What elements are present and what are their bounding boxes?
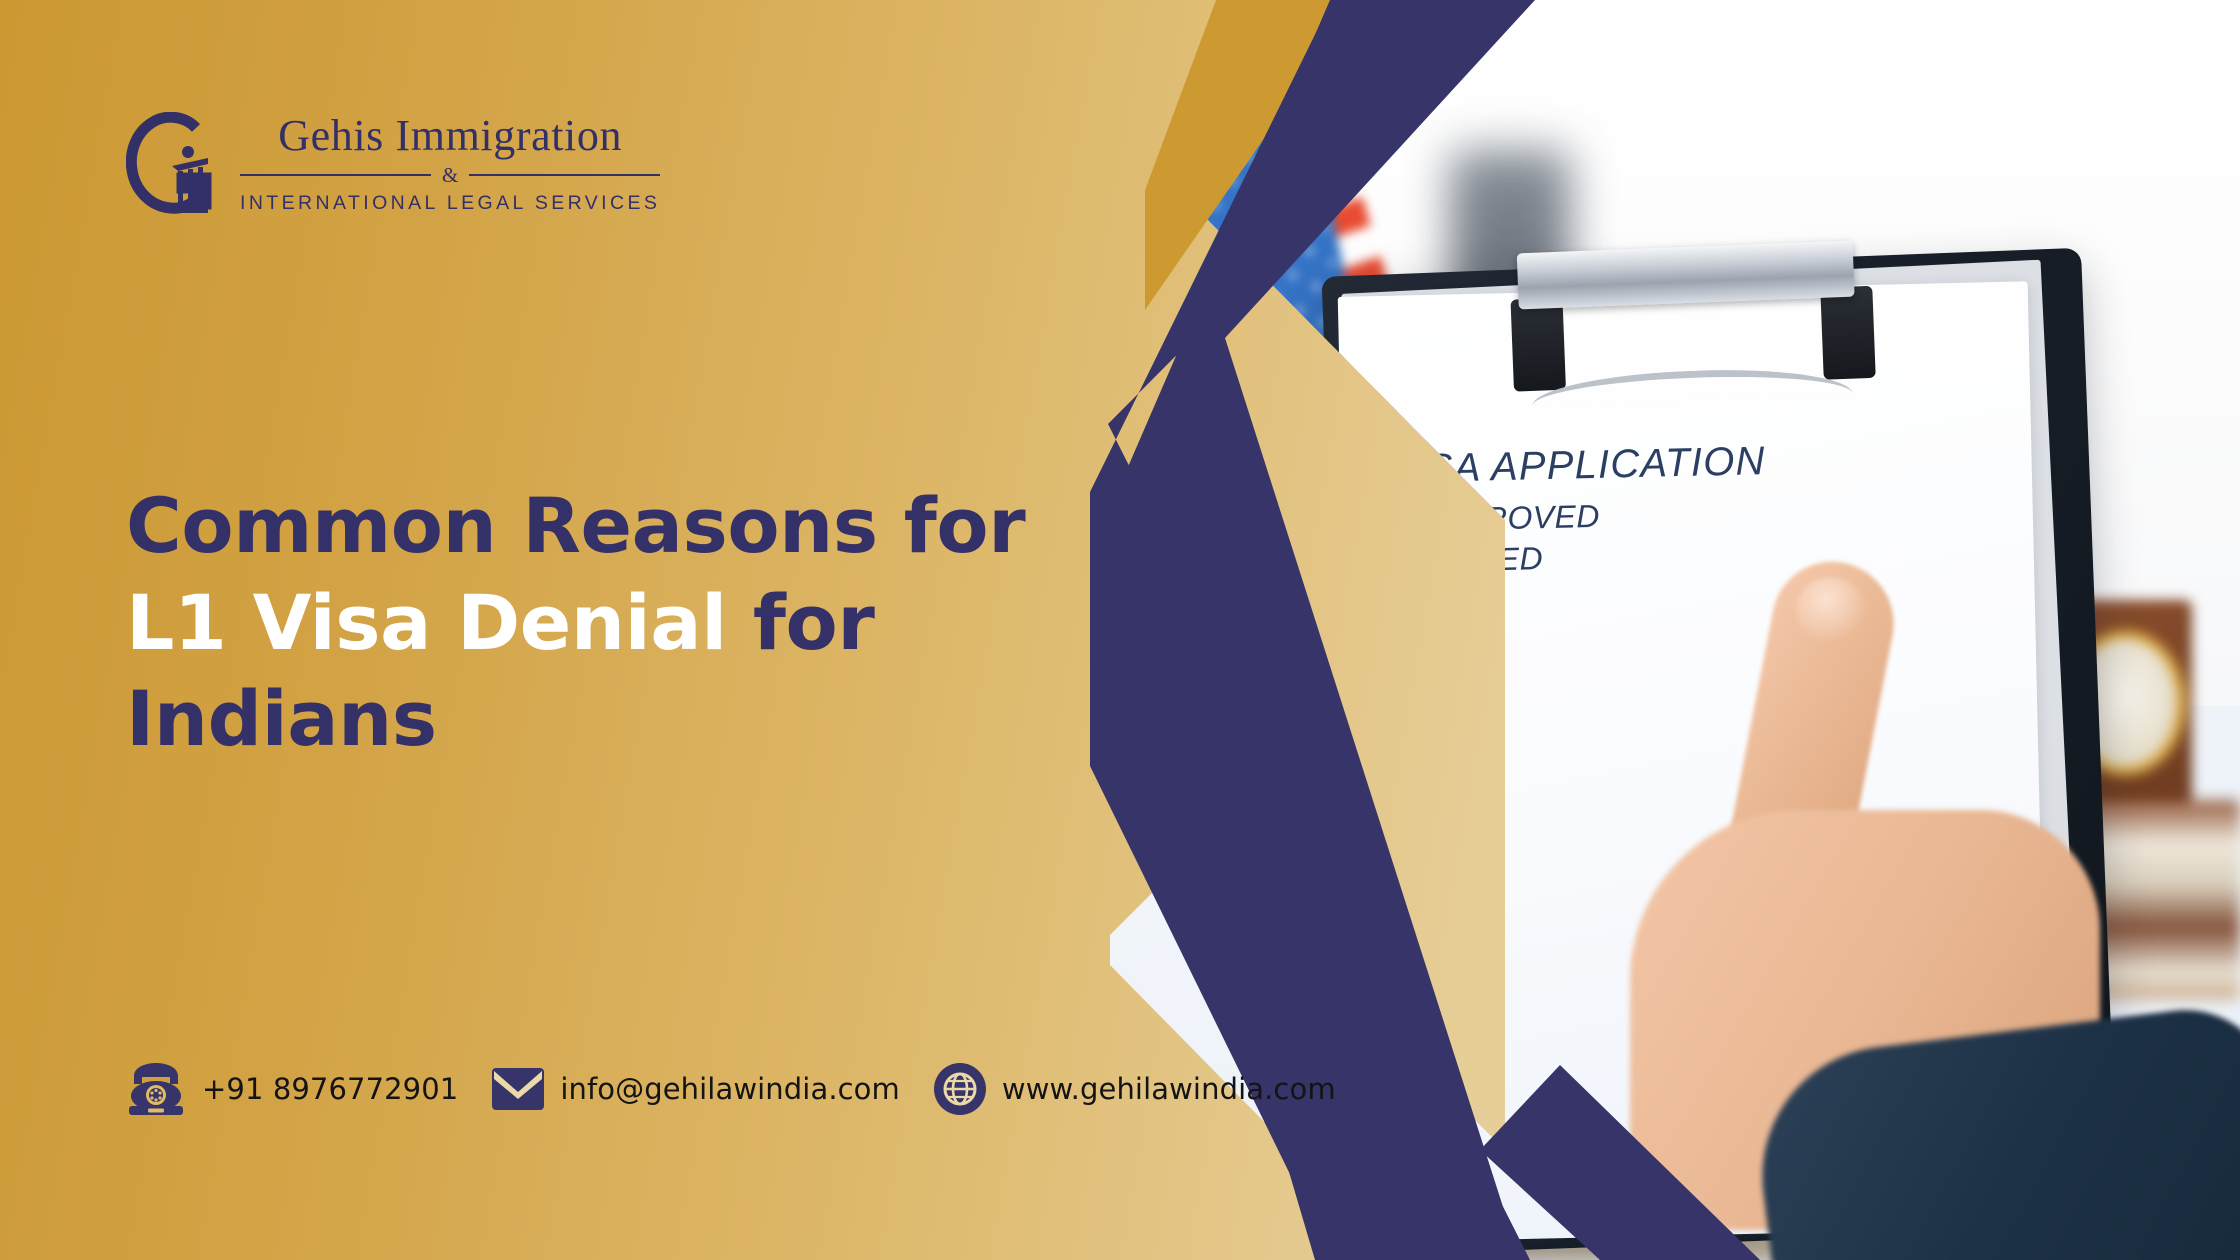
contact-website-text: www.gehilawindia.com (1002, 1072, 1336, 1106)
telephone-icon (126, 1062, 186, 1116)
headline-line-2: L1 Visa Denial for (126, 575, 1126, 672)
hand (1630, 560, 2190, 1260)
headline-line-3: Indians (126, 671, 1126, 768)
brand-logo[interactable]: Gehis Immigration & INTERNATIONAL LEGAL … (126, 112, 660, 216)
form-option-approved-label: APPROVED (1418, 498, 1600, 539)
brand-divider: & (240, 165, 660, 186)
contact-email-text: info@gehilawindia.com (560, 1072, 900, 1106)
divider-line-right (469, 174, 660, 176)
form-option-denied-label: DENIED (1419, 540, 1543, 580)
contact-bar: +91 8976772901 info@gehilawindia.com www… (126, 1062, 1336, 1116)
contact-phone[interactable]: +91 8976772901 (126, 1062, 458, 1116)
divider-line-left (240, 174, 431, 176)
brand-ampersand: & (442, 165, 458, 186)
clip-jaw-right (1820, 286, 1875, 380)
brand-name: Gehis Immigration (278, 114, 622, 158)
globe-icon (934, 1063, 986, 1115)
contact-email[interactable]: info@gehilawindia.com (492, 1068, 900, 1110)
checkbox-denied-checked (1387, 549, 1413, 575)
background-light-glow (1090, 440, 1420, 740)
checkbox-approved (1387, 508, 1413, 534)
headline-line-2-rest: for (753, 578, 875, 667)
flag-canton (1090, 92, 1359, 433)
form-title: VISA APPLICATION (1385, 439, 1766, 493)
headline-highlight: L1 Visa Denial (126, 578, 727, 667)
promotional-banner: VISA APPLICATION APPROVED DENIED (0, 0, 2240, 1260)
contact-phone-text: +91 8976772901 (202, 1072, 458, 1106)
contact-website[interactable]: www.gehilawindia.com (934, 1063, 1336, 1115)
brand-logo-text: Gehis Immigration & INTERNATIONAL LEGAL … (240, 114, 660, 215)
envelope-icon (492, 1068, 544, 1110)
headline-line-1: Common Reasons for (126, 478, 1126, 575)
clip-jaw-left (1510, 298, 1565, 392)
pillar-monogram-icon (126, 112, 218, 216)
page-title: Common Reasons for L1 Visa Denial for In… (126, 478, 1126, 768)
flag-soft-fade (1090, 560, 1480, 880)
brand-tagline: INTERNATIONAL LEGAL SERVICES (240, 192, 660, 215)
form-option-approved: APPROVED (1386, 494, 1767, 540)
